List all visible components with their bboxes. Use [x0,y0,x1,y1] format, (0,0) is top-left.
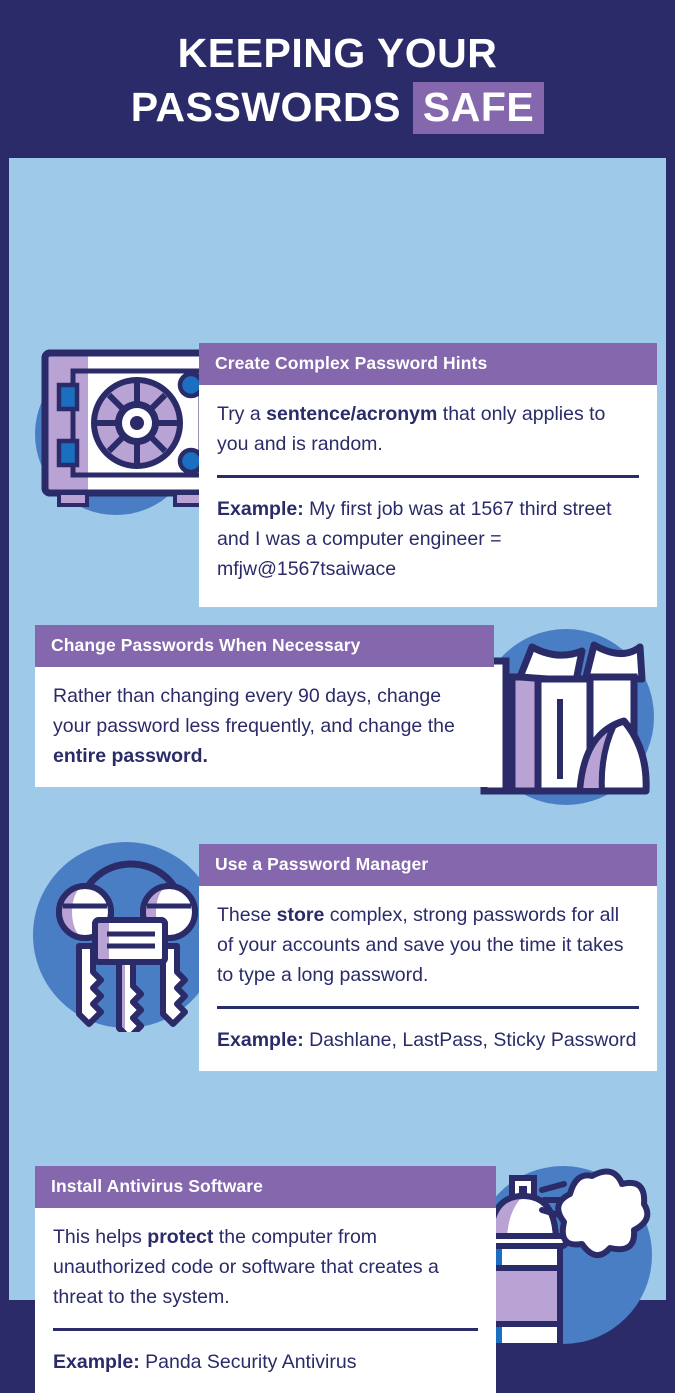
poster-header: KEEPING YOUR PASSWORDS SAFE [0,0,675,158]
card-title: Change Passwords When Necessary [35,625,494,667]
card-example: Example: Panda Security Antivirus [53,1347,478,1377]
card-text-lead: Rather than changing every 90 days, chan… [53,685,455,737]
example-text: Panda Security Antivirus [140,1351,357,1373]
poster-body-panel: Create Complex Password Hints Try a sent… [9,158,666,1300]
poster-title-prefix: PASSWORDS [131,84,401,130]
card-paragraph: This helps protect the computer from una… [53,1222,478,1312]
poster-title-highlight: SAFE [413,82,544,134]
card-body: Rather than changing every 90 days, chan… [35,667,494,787]
card-text-bold: protect [147,1226,213,1248]
card-text-bold: store [277,904,325,926]
poster-title-line-2: PASSWORDS SAFE [0,80,675,134]
card-use-a-password-manager: Use a Password Manager These store compl… [199,844,657,1071]
card-paragraph: Try a sentence/acronym that only applies… [217,399,639,459]
card-text-lead: This helps [53,1226,147,1248]
card-body: Try a sentence/acronym that only applies… [199,385,657,607]
card-title: Use a Password Manager [199,844,657,886]
example-label: Example: [53,1351,140,1373]
card-title: Install Antivirus Software [35,1166,496,1208]
card-body: These store complex, strong passwords fo… [199,886,657,1071]
card-title: Create Complex Password Hints [199,343,657,385]
books-icon [468,621,660,813]
card-paragraph: Rather than changing every 90 days, chan… [53,681,476,771]
poster-title-line-1: KEEPING YOUR [0,26,675,80]
spray-can-icon [468,1156,664,1352]
divider [53,1328,478,1331]
card-example: Example: Dashlane, LastPass, Sticky Pass… [217,1025,639,1055]
spray-can-icon-glyph [468,1156,664,1352]
infographic-poster: KEEPING YOUR PASSWORDS SAFE [0,0,675,1309]
card-text-lead: Try a [217,403,266,425]
example-text: Dashlane, LastPass, Sticky Password [304,1029,637,1051]
card-body: This helps protect the computer from una… [35,1208,496,1393]
card-change-passwords-when-necessary: Change Passwords When Necessary Rather t… [35,625,494,787]
card-install-antivirus-software: Install Antivirus Software This helps pr… [35,1166,496,1393]
card-example: Example: My first job was at 1567 third … [217,494,639,584]
example-label: Example: [217,498,304,520]
card-create-complex-password-hints: Create Complex Password Hints Try a sent… [199,343,657,607]
divider [217,475,639,478]
card-paragraph: These store complex, strong passwords fo… [217,900,639,990]
card-text-bold: entire password. [53,745,208,767]
divider [217,1006,639,1009]
books-icon-glyph [468,621,660,813]
card-text-bold: sentence/acronym [266,403,437,425]
example-label: Example: [217,1029,304,1051]
card-text-lead: These [217,904,277,926]
